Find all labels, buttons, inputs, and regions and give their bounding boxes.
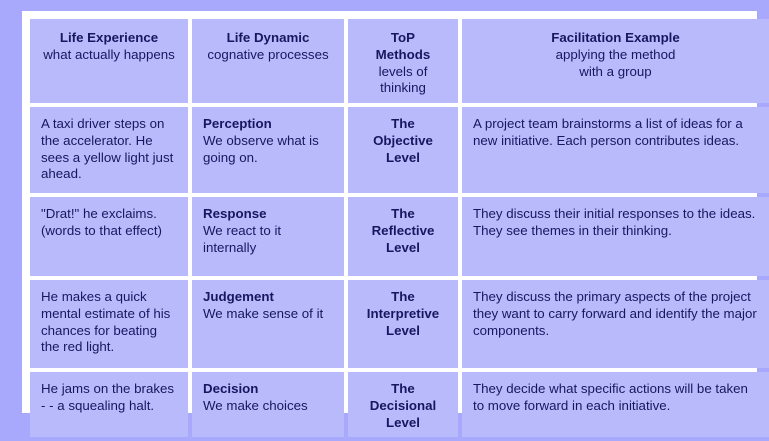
life-experience-text: He jams on the brakes - - a squealing ha… xyxy=(41,381,177,415)
cell-life-experience: He makes a quick mental estimate of his … xyxy=(30,280,188,368)
top-method-line-1: The xyxy=(359,206,447,223)
top-methods-table: Life Experience what actually happens Li… xyxy=(26,15,769,441)
life-experience-text: A taxi driver steps on the accelerator. … xyxy=(41,116,177,183)
header-title-facilitation-example: Facilitation Example xyxy=(473,30,758,47)
top-method-line-1: The xyxy=(359,116,447,133)
life-dynamic-text: We observe what is going on. xyxy=(203,133,333,167)
header-cell-life-dynamic: Life Dynamic cognative processes xyxy=(192,19,344,103)
top-method-line-2: Decisional xyxy=(359,398,447,415)
cell-life-experience: "Drat!" he exclaims. (words to that effe… xyxy=(30,197,188,276)
top-method-line-2: Objective xyxy=(359,133,447,150)
cell-life-dynamic: Judgement We make sense of it xyxy=(192,280,344,368)
cell-life-dynamic: Decision We make choices xyxy=(192,372,344,437)
table-row: He makes a quick mental estimate of his … xyxy=(30,280,769,368)
life-experience-text: "Drat!" he exclaims. (words to that effe… xyxy=(41,206,177,240)
facilitation-example-text: They discuss their initial responses to … xyxy=(473,206,758,240)
facilitation-example-text: They discuss the primary aspects of the … xyxy=(473,289,758,339)
cell-facilitation-example: They discuss the primary aspects of the … xyxy=(462,280,769,368)
header-subtitle-life-experience: what actually happens xyxy=(41,47,177,64)
top-method-line-2: Interpretive xyxy=(359,306,447,323)
cell-life-dynamic: Perception We observe what is going on. xyxy=(192,107,344,193)
header-title-methods: Methods xyxy=(359,47,447,64)
life-dynamic-title: Response xyxy=(203,206,333,223)
top-method-line-2: Reflective xyxy=(359,223,447,240)
header-subtitle-facilitation-example-line1: applying the method xyxy=(473,47,758,64)
header-cell-top-methods: ToP Methods levels of thinking xyxy=(348,19,458,103)
life-dynamic-text: We make sense of it xyxy=(203,306,333,323)
cell-top-method: The Decisional Level xyxy=(348,372,458,437)
header-subtitle-top-methods-line1: levels of xyxy=(359,64,447,81)
life-dynamic-title: Decision xyxy=(203,381,333,398)
life-experience-text: He makes a quick mental estimate of his … xyxy=(41,289,177,356)
header-subtitle-life-dynamic: cognative processes xyxy=(203,47,333,64)
cell-life-experience: He jams on the brakes - - a squealing ha… xyxy=(30,372,188,437)
top-method-line-1: The xyxy=(359,381,447,398)
top-method-line-1: The xyxy=(359,289,447,306)
cell-facilitation-example: They discuss their initial responses to … xyxy=(462,197,769,276)
cell-top-method: The Reflective Level xyxy=(348,197,458,276)
cell-top-method: The Interpretive Level xyxy=(348,280,458,368)
header-cell-facilitation-example: Facilitation Example applying the method… xyxy=(462,19,769,103)
header-title-life-dynamic: Life Dynamic xyxy=(203,30,333,47)
top-method-line-3: Level xyxy=(359,323,447,340)
life-dynamic-text: We make choices xyxy=(203,398,333,415)
header-cell-life-experience: Life Experience what actually happens xyxy=(30,19,188,103)
header-subtitle-top-methods-line2: thinking xyxy=(359,80,447,97)
table-row: He jams on the brakes - - a squealing ha… xyxy=(30,372,769,437)
facilitation-example-text: A project team brainstorms a list of ide… xyxy=(473,116,758,150)
cell-life-experience: A taxi driver steps on the accelerator. … xyxy=(30,107,188,193)
table-header-row: Life Experience what actually happens Li… xyxy=(30,19,769,103)
top-method-line-3: Level xyxy=(359,150,447,167)
table-row: "Drat!" he exclaims. (words to that effe… xyxy=(30,197,769,276)
cell-facilitation-example: A project team brainstorms a list of ide… xyxy=(462,107,769,193)
cell-top-method: The Objective Level xyxy=(348,107,458,193)
cell-facilitation-example: They decide what specific actions will b… xyxy=(462,372,769,437)
top-method-line-3: Level xyxy=(359,415,447,432)
top-methods-table-frame: Life Experience what actually happens Li… xyxy=(22,11,757,413)
header-title-life-experience: Life Experience xyxy=(41,30,177,47)
header-title-top: ToP xyxy=(359,30,447,47)
header-subtitle-facilitation-example-line2: with a group xyxy=(473,64,758,81)
life-dynamic-title: Judgement xyxy=(203,289,333,306)
cell-life-dynamic: Response We react to it internally xyxy=(192,197,344,276)
top-method-line-3: Level xyxy=(359,240,447,257)
facilitation-example-text: They decide what specific actions will b… xyxy=(473,381,758,415)
table-row: A taxi driver steps on the accelerator. … xyxy=(30,107,769,193)
life-dynamic-title: Perception xyxy=(203,116,333,133)
life-dynamic-text: We react to it internally xyxy=(203,223,333,257)
